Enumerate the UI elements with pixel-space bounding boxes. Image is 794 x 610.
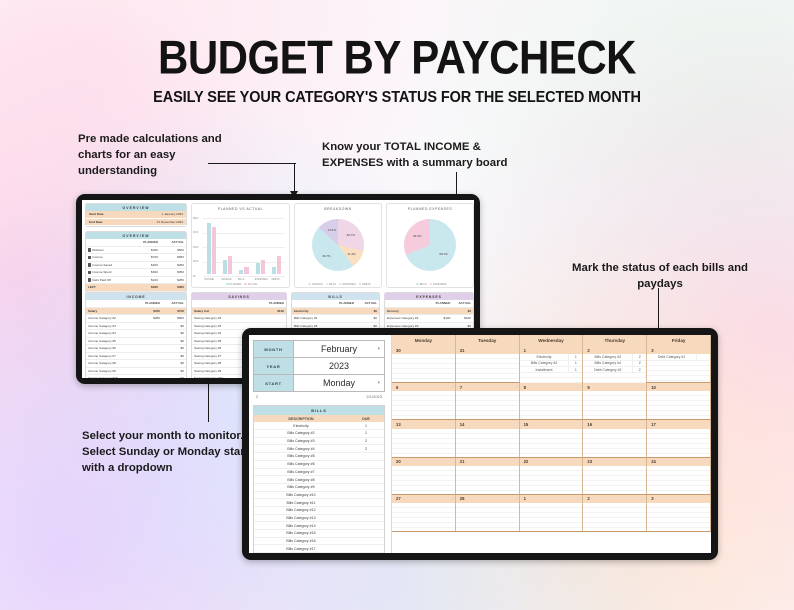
overview-col-blank [86,239,130,246]
leader-line-4 [208,382,209,422]
start-date-value: 1 January 2023 [162,212,183,216]
calendar-empty-slot[interactable] [392,411,455,416]
calendar-day-number[interactable]: 1 [520,346,584,354]
bill-due-day: 2 [348,445,384,452]
calendar-day-cell[interactable]: Bills Category #32Bills Category #42Debt… [583,354,647,382]
bill-due-row[interactable]: Bills Category #42 [254,445,384,453]
calendar-day-cell[interactable] [520,466,584,494]
selector-row-year[interactable]: YEAR2023 [254,358,385,375]
calendar-day-cell[interactable] [520,429,584,457]
y-tick-label: $200 [193,260,198,263]
legend-swatch [416,283,418,285]
calendar-day-cell[interactable] [647,466,711,494]
overview-row-planned: $400 [130,284,160,292]
calendar-week-numbers: 3031123 [392,346,711,354]
bar-group [256,218,265,274]
table-cell [330,307,356,315]
calendar-day-cell[interactable] [456,354,520,382]
table-cell: Income Category #9 [86,367,135,375]
calendar-empty-slot[interactable] [392,523,455,528]
event-label: Installment [520,367,569,372]
calendar-day-number[interactable]: 9 [583,383,647,391]
bill-due-day [348,461,384,468]
overview-row-label: Income [86,254,130,262]
table-cell: Income Category #10 [86,375,135,379]
bill-due-day [348,507,384,514]
table-cell: Saving Category #2 [192,315,252,323]
overview-row-actual: $500 [160,246,186,254]
calendar-day-number[interactable]: 28 [456,495,520,503]
planned-vs-actual-chart: PLANNED VS ACTUAL $0$200$400$600$800 INC… [191,203,290,288]
overview-row-actual: $650 [160,254,186,262]
calendar-day-number[interactable]: 3 [647,346,711,354]
calendar-empty-slot[interactable] [583,486,646,491]
table-row[interactable]: Income Category #7$0 [86,352,186,360]
overview-start-date-row[interactable]: Start Date 1 January 2023 [86,211,186,219]
overview-row-actual: $350 [160,269,186,277]
table-cell: $130 [252,307,286,315]
calendar-empty-slot[interactable] [583,411,646,416]
bar-planned [256,263,260,274]
overview-row-planned: $100 [130,276,160,284]
calendar-day-number[interactable]: 14 [456,420,520,428]
bill-description: Bills Category #3 [254,438,348,445]
event-label: Bills Category #3 [583,354,632,359]
legend-swatch [308,283,310,285]
overview-summary-card: OVERVIEW PLANNED ACTUAL Rollover$300$500… [85,231,187,293]
x-tick-label: EXPENSES [255,278,268,281]
calendar-day-header: Tuesday [456,335,520,346]
bill-due-row[interactable]: Bills Category #13 [254,515,384,523]
table-cell: Salary [86,307,135,315]
table-cell: $0 [162,330,186,338]
chevron-down-icon[interactable]: ▾ [377,346,380,352]
bill-due-row[interactable]: Bills Category #32 [254,438,384,446]
selector-row-month[interactable]: MONTHFebruary▾ [254,341,385,358]
calendar-day-number[interactable]: 10 [647,383,711,391]
bill-due-day [348,499,384,506]
leader-line-1 [208,163,296,164]
selector-value[interactable]: Monday▾ [294,375,385,392]
bill-due-day: 1 [348,422,384,429]
calendar-grid: MondayTuesdayWednesdayThursdayFriday 303… [392,335,711,553]
page-title: BUDGET BY PAYCHECK [0,31,794,85]
calendar-day-cell[interactable] [456,503,520,531]
calendar-day-cell[interactable] [520,503,584,531]
calendar-week-numbers: 1314151617 [392,420,711,428]
bar-group [207,218,216,274]
overview-row-planned: $300 [130,246,160,254]
bar-actual [228,256,232,274]
selector-row-start[interactable]: STARTMonday▾ [254,375,385,392]
calendar-day-cell[interactable] [392,466,456,494]
calendar-day-header: Thursday [583,335,647,346]
legend-label: BILLS [329,283,336,286]
bill-due-row[interactable]: Bills Category #21 [254,430,384,438]
table-row[interactable]: Income Category #5$0 [86,337,186,345]
calendar-day-number[interactable]: 1 [520,495,584,503]
calendar-day-number[interactable]: 2 [583,346,647,354]
table-cell: Income Category #4 [86,330,135,338]
bar-chart-title: PLANNED VS ACTUAL [192,204,289,211]
bill-description: Electricity [254,422,348,429]
calendar-week-numbers: 678910 [392,383,711,391]
overview-row-label: Income Spent [86,269,130,277]
overview-date-title: OVERVIEW [86,204,186,211]
table-row[interactable]: Income Category #2$250$500 [86,315,186,323]
calendar-day-number[interactable]: 8 [520,383,584,391]
table-cell: Income Category #5 [86,337,135,345]
legend-label: PLANNED [230,283,242,286]
bill-due-day [348,476,384,483]
selector-value[interactable]: 2023 [294,358,385,375]
bill-due-row[interactable]: Bills Category #11 [254,499,384,507]
callout-calculations: Pre made calculations and charts for an … [78,131,256,180]
table-cell: $0 [162,337,186,345]
calendar-day-header: Friday [647,335,711,346]
bill-due-row[interactable]: Bills Category #6 [254,461,384,469]
bill-description: Bills Category #15 [254,530,348,537]
calendar-day-number[interactable]: 16 [583,420,647,428]
bill-description: Bills Category #5 [254,453,348,460]
calendar-empty-slot[interactable] [583,449,646,454]
overview-date-card: OVERVIEW Start Date 1 January 2023 End D… [85,203,187,227]
pie2-plot [404,219,456,271]
chevron-down-icon[interactable]: ▾ [377,380,380,386]
income-table-body: PLANNEDACTUALSalary$450$700Income Catego… [86,300,186,378]
breakdown-pie-chart: BREAKDOWN 28.7%11.3%46.7%13.3% SAVINGSBI… [294,203,382,288]
table-cell [330,315,356,323]
bill-due-row[interactable]: Bills Category #17 [254,545,384,553]
table-row[interactable]: Income Category #3$0 [86,322,186,330]
pie1-title: BREAKDOWN [295,204,381,211]
bills-col-due: DUE [348,415,384,422]
calendar-day-number[interactable]: 7 [456,383,520,391]
event-label: Bills Category #4 [583,361,632,366]
calendar-empty-slot[interactable] [647,449,710,454]
bill-due-row[interactable]: Bills Category #15 [254,530,384,538]
checkbox-icon[interactable] [88,278,91,281]
overview-row[interactable]: Rollover$300$500 [86,246,186,254]
event-label: Bills Category #2 [520,361,569,366]
table-col-header [192,300,252,307]
bill-due-day [348,453,384,460]
calendar-day-cell[interactable] [647,429,711,457]
x-tick-label: DEBTS [272,278,280,281]
bill-due-row[interactable]: Bills Category #5 [254,453,384,461]
calendar-empty-slot[interactable] [647,411,710,416]
pie2-title: PLANNED EXPENSES [387,204,473,211]
calendar-empty-slot[interactable] [392,374,455,379]
calendar-week: 2728123 [392,495,711,532]
overview-row[interactable]: Income Saved$200$250 [86,261,186,269]
calendar-empty-slot[interactable] [647,523,710,528]
table-col-header: ACTUAL [356,300,379,307]
calendar-screen: MONTHFebruary▾YEAR2023STARTMonday▾ 2 2/1… [249,335,711,553]
table-cell: Income Category #7 [86,352,135,360]
calendar-day-cell[interactable] [647,503,711,531]
expenses-table-title: EXPENSES [385,293,473,300]
calendar-day-number[interactable]: 20 [392,458,456,466]
calendar-day-cell[interactable] [456,429,520,457]
calendar-empty-slot[interactable] [583,523,646,528]
selector-value[interactable]: February▾ [294,341,385,358]
table-row[interactable]: Bills Category #2$0 [292,315,379,323]
calendar-day-number[interactable]: 21 [456,458,520,466]
calendar-week-body [392,391,711,419]
legend-label: EXPENSES [342,283,355,286]
calendar-empty-slot[interactable] [520,486,583,491]
bill-description: Bills Category #16 [254,538,348,545]
calendar-day-number[interactable]: 15 [520,420,584,428]
bar-group [272,218,281,274]
checkbox-icon[interactable] [88,256,91,259]
calendar-day-cell[interactable] [583,466,647,494]
table-cell [135,352,162,360]
month-selector-body: MONTHFebruary▾YEAR2023STARTMonday▾ [254,341,385,392]
table-cell: $0 [162,345,186,353]
bill-description: Bills Category #6 [254,461,348,468]
calendar-day-cell[interactable] [520,391,584,419]
overview-col-actual: ACTUAL [160,239,186,246]
bill-due-row[interactable]: Bills Category #12 [254,507,384,515]
overview-row-actual: $300 [160,284,186,292]
table-row[interactable]: Income Category #4$0 [86,330,186,338]
bill-due-row[interactable]: Electricity1 [254,422,384,430]
table-header-row: PLANNEDACTUAL [385,300,473,307]
table-header-row: PLANNED [192,300,286,307]
callout-month-select: Select your month to monitor. Select Sun… [82,428,267,477]
table-cell: $700 [162,307,186,315]
calendar-day-number[interactable]: 13 [392,420,456,428]
bill-description: Bills Category #7 [254,469,348,476]
calendar-day-cell[interactable]: Electricity1Bills Category #21Installmen… [520,354,584,382]
calendar-day-number[interactable]: 17 [647,420,711,428]
calendar-day-number[interactable]: 3 [647,495,711,503]
table-col-header: PLANNED [429,300,452,307]
bill-due-day [348,545,384,552]
calendar-week: 2021222324 [392,458,711,495]
table-col-header [385,300,429,307]
overview-summary-body: Rollover$300$500Income$700$650Income Sav… [86,246,186,291]
event-value: 2 [632,361,646,366]
event-label: Electricity [520,354,569,359]
bill-description: Bills Category #13 [254,515,348,522]
bills-table-title: BILLS [292,293,379,300]
overview-row-planned: $200 [130,261,160,269]
event-label: Debt Category #1 [647,354,696,359]
overview-row-actual: $250 [160,261,186,269]
bill-due-day: 1 [348,430,384,437]
bill-due-day: 2 [348,438,384,445]
calendar-empty-slot[interactable] [647,376,710,381]
income-table-title: INCOME [86,293,186,300]
bill-due-row[interactable]: Bills Category #9 [254,484,384,492]
bill-due-row[interactable]: Bills Category #10 [254,492,384,500]
overview-summary-header-row: PLANNED ACTUAL [86,239,186,246]
bill-due-day [348,484,384,491]
overview-row[interactable]: Income$700$650 [86,254,186,262]
calendar-day-header: Wednesday [520,335,584,346]
bill-description: Bills Category #9 [254,484,348,491]
bill-description: Bills Category #11 [254,499,348,506]
bills-due-columns: DESCRIPTION DUE [254,415,384,422]
table-header-row: PLANNEDACTUAL [86,300,186,307]
calendar-empty-slot[interactable] [392,486,455,491]
calendar-empty-slot[interactable] [456,411,519,416]
x-tick-label: SAVINGS [221,278,231,281]
table-cell: Saving Category #3 [192,322,252,330]
table-cell: Income Category #6 [86,345,135,353]
y-tick-label: $0 [193,275,196,278]
selector-label: YEAR [254,358,294,375]
table-row[interactable]: Electricity$0 [292,307,379,315]
calendar-day-cell[interactable] [583,503,647,531]
calendar-week: 3031123Electricity1Bills Category #21Ins… [392,346,711,383]
table-col-header: PLANNED [135,300,162,307]
table-cell: Income Category #3 [86,322,135,330]
table-cell: $0 [356,307,379,315]
calendar-empty-slot[interactable] [392,449,455,454]
table-cell: Salary Cat [192,307,252,315]
table-cell: Grocery [385,307,429,315]
bill-due-row[interactable]: Bills Category #16 [254,538,384,546]
legend-label: BILLS [420,283,427,286]
legend-label: EXPENSES [433,283,446,286]
selector-footer: 2 2/1/2023 [253,392,385,399]
calendar-day-number[interactable]: 27 [392,495,456,503]
bill-due-day [348,522,384,529]
table-row[interactable]: Salary$450$700 [86,307,186,315]
checkbox-icon[interactable] [88,271,91,274]
pie2-legend: BILLSEXPENSES [387,283,473,286]
calendar-empty-slot[interactable] [520,411,583,416]
bill-due-row[interactable]: Bills Category #14 [254,522,384,530]
overview-end-date-row[interactable]: End Date 31 December 2023 [86,219,186,227]
month-selector-table: MONTHFebruary▾YEAR2023STARTMonday▾ [253,340,385,392]
pie-data-label: 11.3% [347,252,355,256]
calendar-spreadsheet: MONTHFebruary▾YEAR2023STARTMonday▾ 2 2/1… [249,335,711,553]
bill-due-row[interactable]: Bills Category #8 [254,476,384,484]
table-cell: $250 [135,315,162,323]
calendar-day-cell[interactable] [392,354,456,382]
calendar-empty-slot[interactable] [520,523,583,528]
bills-due-title: BILLS [254,406,384,415]
calendar-day-number[interactable]: 6 [392,383,456,391]
bar-chart-legend: PLANNEDACTUAL [192,283,289,286]
table-cell: Electricity [292,307,330,315]
bill-description: Bills Category #12 [254,507,348,514]
overview-row[interactable]: LEFT$400$300 [86,284,186,292]
bar-planned [207,223,211,274]
bill-due-day [348,530,384,537]
checkbox-icon[interactable] [88,263,91,266]
event-value: 2 [632,367,646,372]
calendar-day-cell[interactable] [583,429,647,457]
table-row[interactable]: Income Category #10$0 [86,375,186,379]
bar-planned [223,260,227,275]
table-cell: $100 [429,315,452,323]
selector-label: MONTH [254,341,294,358]
table-row[interactable]: Grocery$0 [385,307,473,315]
overview-row[interactable]: Debt Paid Off$100$250 [86,276,186,284]
table-row[interactable]: Expenses Category #2$100$100 [385,315,473,323]
table-row[interactable]: Saving Category #2 [192,315,286,323]
calendar-day-cell[interactable] [392,503,456,531]
pie-data-label: 46.7% [322,254,331,258]
callout-bill-status: Mark the status of each bills and payday… [560,260,760,292]
bill-description: Bills Category #8 [254,476,348,483]
table-cell: $100 [452,315,473,323]
table-cell: $0 [452,307,473,315]
legend-swatch [326,283,328,285]
bills-due-rows: Electricity1Bills Category #21Bills Cate… [254,422,384,553]
overview-row-label: LEFT [86,284,130,292]
event-label: Debt Category #2 [583,367,632,372]
x-tick-label: INCOME [204,278,214,281]
calendar-empty-slot[interactable] [647,486,710,491]
calendar-day-cell[interactable]: Debt Category #1 [647,354,711,382]
end-date-label: End Date [89,220,102,224]
overview-row-planned: $700 [130,254,160,262]
calendar-day-cell[interactable] [456,391,520,419]
calendar-empty-slot[interactable] [456,523,519,528]
table-cell [429,307,452,315]
calendar-day-number[interactable]: 23 [583,458,647,466]
legend-label: DEBTS [362,283,370,286]
bar-chart-plot [203,218,285,274]
table-cell: $450 [135,307,162,315]
income-table: INCOME PLANNEDACTUALSalary$450$700Income… [85,292,187,378]
calendar-week: 678910 [392,383,711,420]
table-col-header [86,300,135,307]
calendar-week-body [392,503,711,531]
calendar-empty-slot[interactable] [456,449,519,454]
event-value: 1 [568,354,582,359]
calendar-day-cell[interactable] [583,391,647,419]
table-row[interactable]: Income Category #6$0 [86,345,186,353]
table-row[interactable]: Salary Cat$130 [192,307,286,315]
bills-due-card: BILLS DESCRIPTION DUE Electricity1Bills … [253,405,385,553]
calendar-day-number[interactable]: 30 [392,346,456,354]
overview-row[interactable]: Income Spent$300$350 [86,269,186,277]
table-row[interactable]: Income Category #9$0 [86,367,186,375]
checkbox-icon[interactable] [88,248,91,251]
calendar-day-headers: MondayTuesdayWednesdayThursdayFriday [392,335,711,346]
calendar-day-number[interactable]: 22 [520,458,584,466]
calendar-day-number[interactable]: 2 [583,495,647,503]
table-cell [135,375,162,379]
table-cell [135,322,162,330]
calendar-empty-slot[interactable] [456,486,519,491]
calendar-day-cell[interactable] [647,391,711,419]
event-value: 2 [632,354,646,359]
calendar-day-cell[interactable] [392,429,456,457]
calendar-day-number[interactable]: 24 [647,458,711,466]
bill-due-row[interactable]: Bills Category #7 [254,469,384,477]
calendar-day-number[interactable]: 31 [456,346,520,354]
table-cell: $0 [162,375,186,379]
legend-swatch [430,283,432,285]
calendar-day-header: Monday [392,335,456,346]
calendar-day-cell[interactable] [456,466,520,494]
calendar-empty-slot[interactable] [520,449,583,454]
table-cell: $0 [162,322,186,330]
table-row[interactable]: Income Category #8$0 [86,360,186,368]
calendar-empty-slot[interactable] [456,374,519,379]
calendar-day-cell[interactable] [392,391,456,419]
pie-data-label: 28.7% [347,233,356,237]
